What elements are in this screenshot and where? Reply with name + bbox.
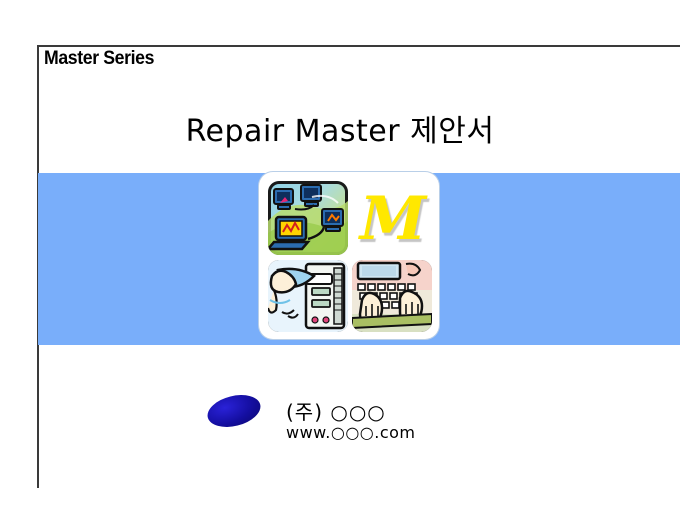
hands-keyboard-icon	[352, 260, 432, 332]
product-logo-card: M	[259, 172, 439, 339]
company-name: (주) ○○○	[286, 396, 386, 425]
series-label: Master Series	[44, 48, 154, 70]
logo-letter-m: M	[353, 182, 433, 256]
company-logo-mark	[204, 390, 264, 432]
title-slide: Master Series Repair Master 제안서	[0, 0, 680, 510]
page-title: Repair Master 제안서	[0, 106, 680, 150]
disk-insert-icon	[268, 260, 348, 332]
networked-computers-icon	[268, 181, 348, 255]
header-divider-rule	[37, 45, 680, 47]
company-url[interactable]: www.○○○.com	[286, 423, 416, 442]
